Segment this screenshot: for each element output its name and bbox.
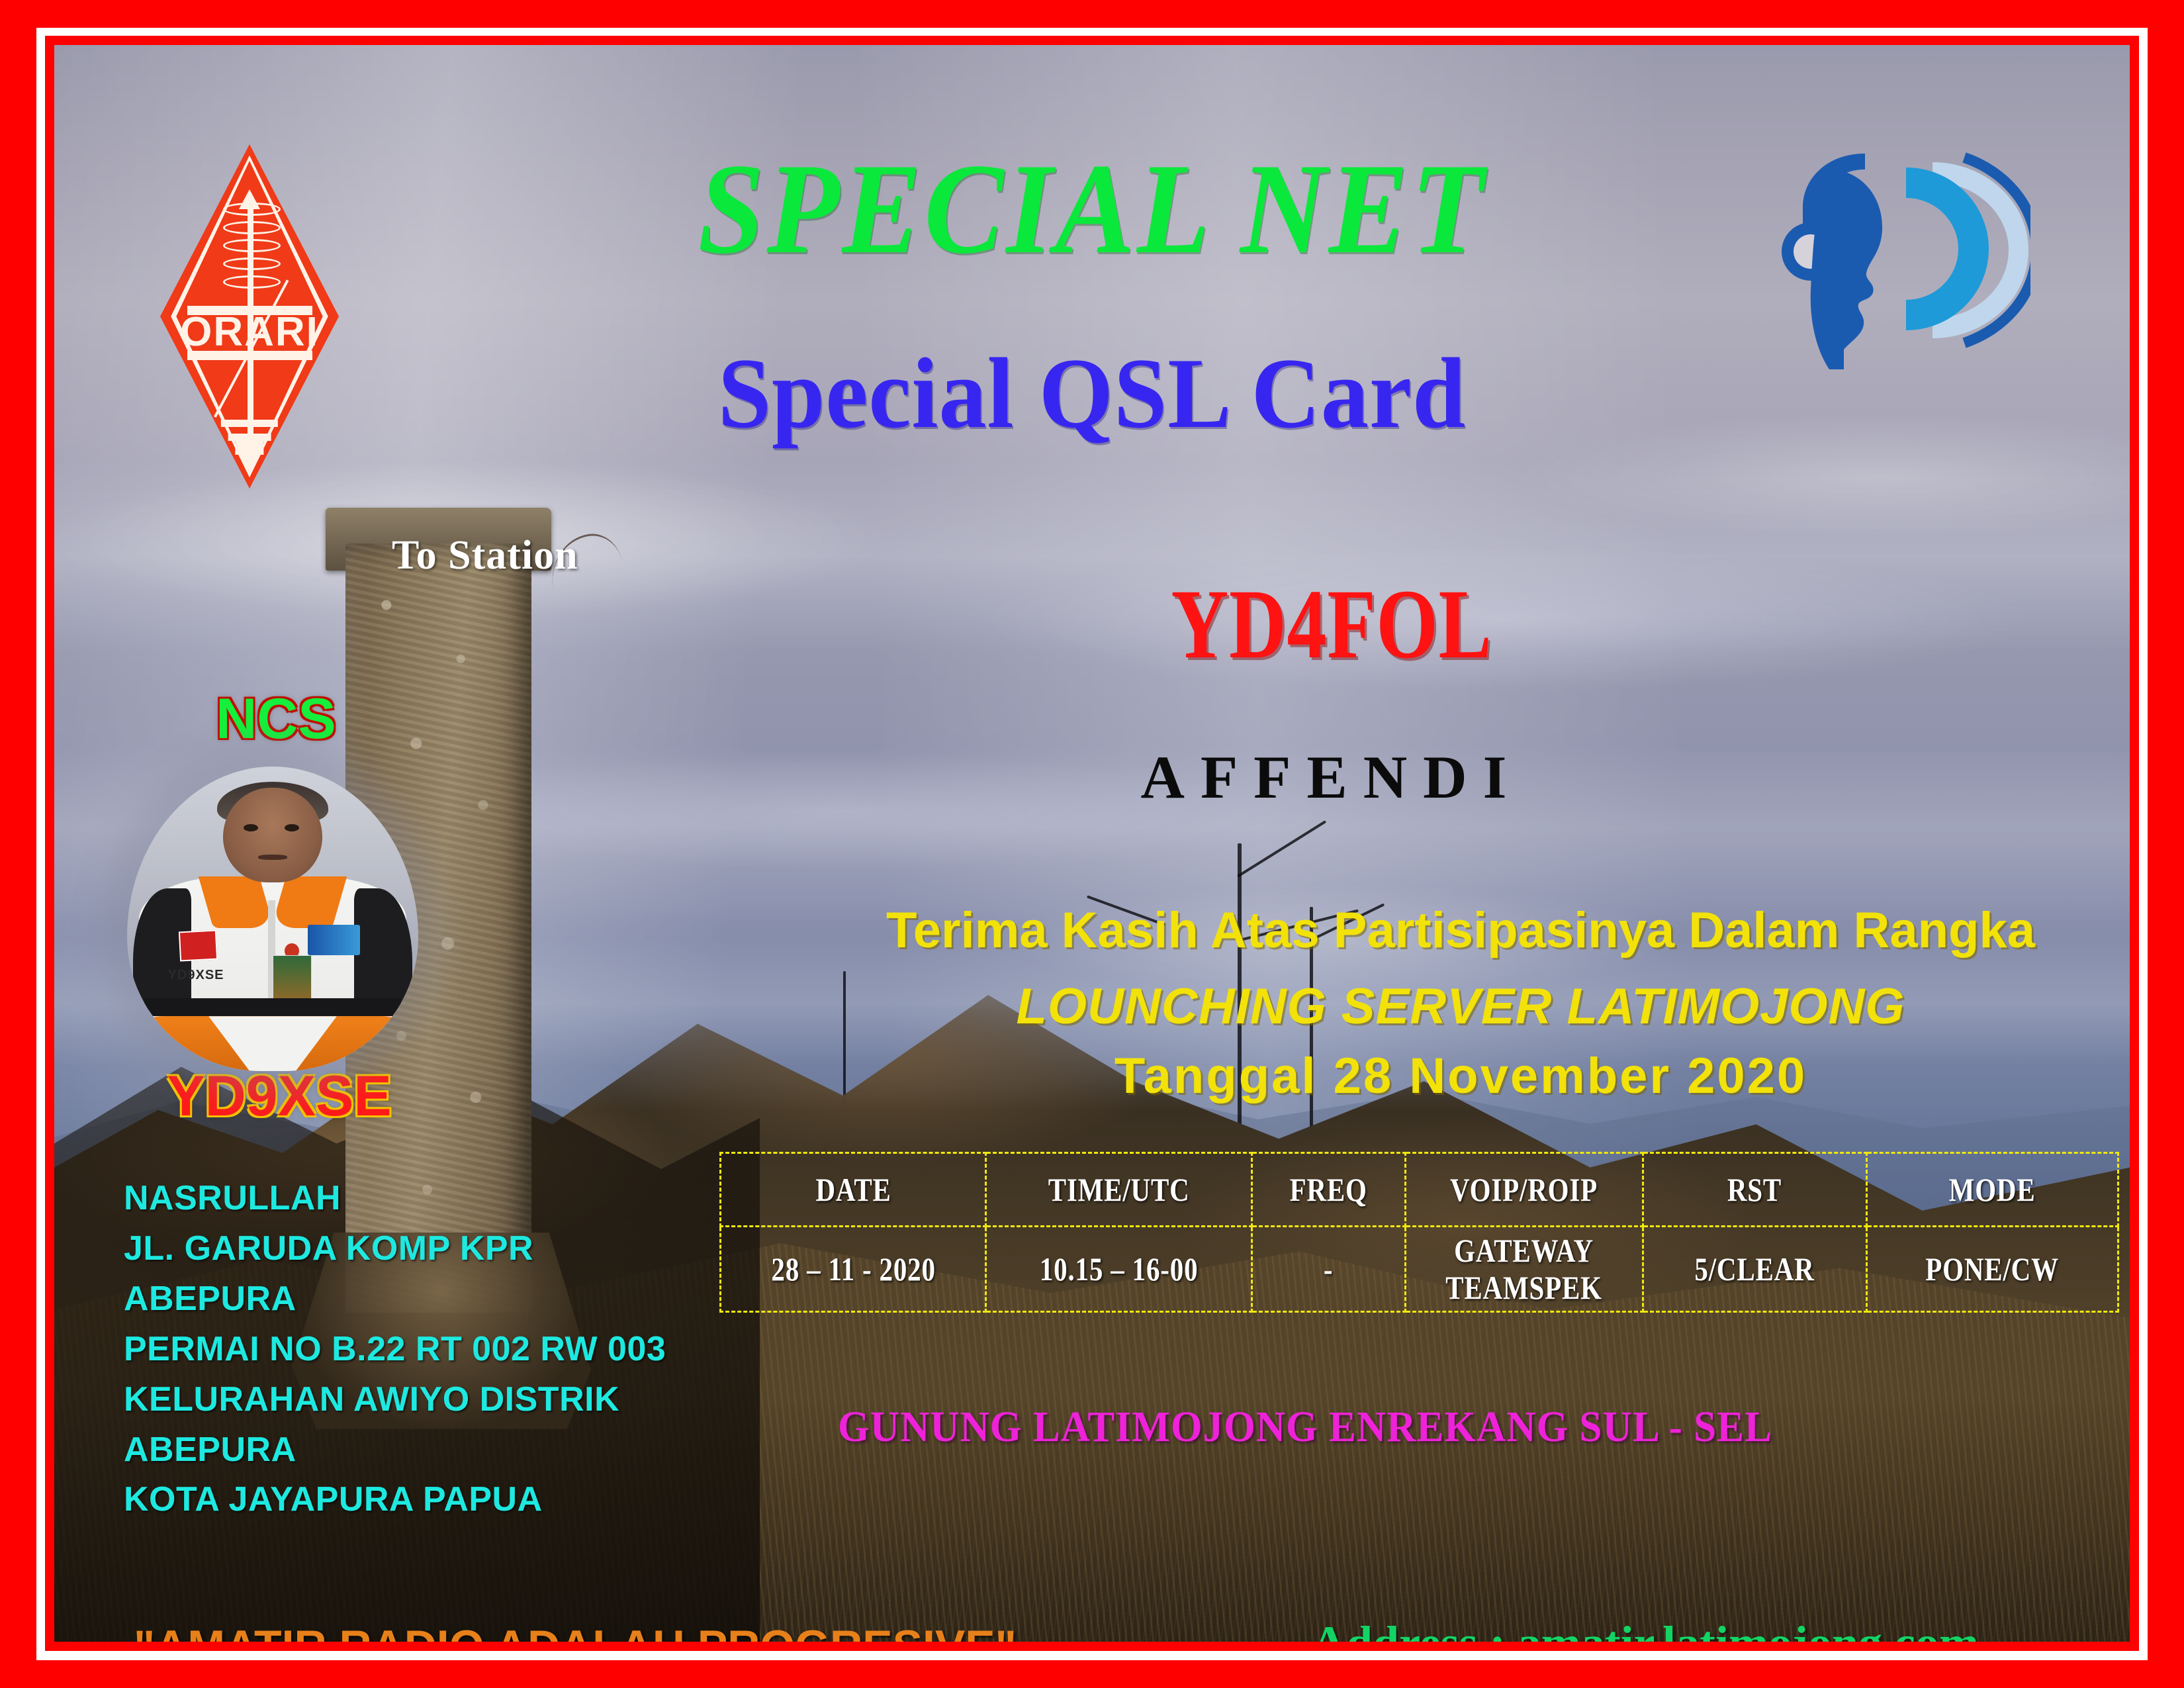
address-block: NASRULLAH JL. GARUDA KOMP KPR ABEPURA PE… (124, 1174, 666, 1525)
address-line: NASRULLAH (124, 1174, 666, 1224)
qso-log-table: DATE TIME/UTC FREQ VOIP/ROIP RST MODE 28… (719, 1152, 2119, 1313)
operator-name: AFFENDI (994, 747, 1669, 808)
column-header-voip-roip: VOIP/ROIP (1427, 1153, 1621, 1227)
location-label: GUNUNG LATIMOJONG ENREKANG SUL - SEL (745, 1405, 1866, 1449)
column-header-date: DATE (745, 1153, 962, 1227)
column-header-mode: MODE (1889, 1153, 2096, 1227)
ncs-callsign: YD9XSE (140, 1068, 418, 1125)
photo-name-tag: YD9XSE (168, 968, 224, 983)
station-callsign: YD4FOL (1093, 575, 1570, 674)
photo-id-card (273, 955, 312, 999)
to-station-label: To Station (392, 535, 578, 576)
cell-date: 28 – 11 - 2020 (745, 1227, 962, 1312)
photo-belt (144, 998, 400, 1017)
page-title: SPECIAL NET (137, 144, 2046, 274)
cell-voip-roip: GATEWAY TEAMSPEK (1427, 1227, 1621, 1312)
photo-club-logo-patch (308, 925, 360, 955)
table-row: 28 – 11 - 2020 10.15 – 16-00 - GATEWAY T… (721, 1227, 2118, 1312)
address-line: KELURAHAN AWIYO DISTRIK (124, 1375, 666, 1425)
cell-freq: - (1265, 1227, 1391, 1312)
address-line: ABEPURA (124, 1425, 666, 1476)
address-line: KOTA JAYAPURA PAPUA (124, 1475, 666, 1525)
address-line: ABEPURA (124, 1274, 666, 1325)
cell-time: 10.15 – 16-00 (1010, 1227, 1228, 1312)
photo-red-badge (179, 930, 218, 962)
ncs-label: NCS (187, 690, 365, 747)
address-line: JL. GARUDA KOMP KPR (124, 1224, 666, 1274)
address-line: PERMAI NO B.22 RT 002 RW 003 (124, 1325, 666, 1375)
event-date: Tanggal 28 November 2020 (815, 1051, 2106, 1102)
qsl-card: ORARI (0, 0, 2184, 1688)
photo-shoulder-right (354, 888, 412, 1010)
table-header-row: DATE TIME/UTC FREQ VOIP/ROIP RST MODE (721, 1153, 2118, 1227)
photo-face (223, 788, 322, 882)
column-header-time: TIME/UTC (1010, 1153, 1228, 1227)
thanks-message: Terima Kasih Atas Partisipasinya Dalam R… (815, 906, 2106, 956)
background-photograph: ORARI (54, 45, 2130, 1642)
footer-web-address: Address : amatir.latimojong.com (1312, 1619, 1979, 1642)
event-name: LOUNCHING SERVER LATIMOJONG (815, 982, 2106, 1032)
page-subtitle: Special QSL Card (106, 343, 2077, 444)
footer-motto: "AMATIR RADIO ADALAH PROGRESIVE" (134, 1624, 1017, 1642)
column-header-freq: FREQ (1265, 1153, 1391, 1227)
cell-mode: PONE/CW (1889, 1227, 2096, 1312)
photo-mouth (258, 855, 287, 859)
cell-rst: 5/CLEAR (1663, 1227, 1846, 1312)
column-header-rst: RST (1663, 1153, 1846, 1227)
